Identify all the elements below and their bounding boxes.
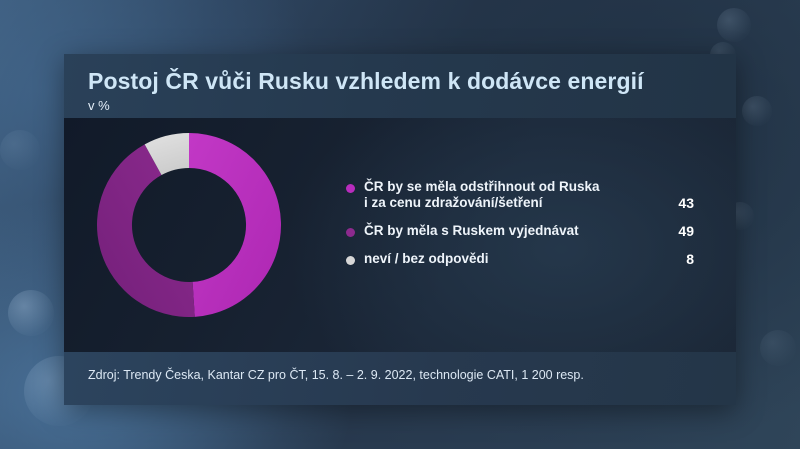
donut-chart [94, 130, 284, 320]
legend-item-odstrihnout[interactable]: ČR by se měla odstřihnout od Ruska i za … [346, 179, 694, 211]
card-footer: Zdroj: Trendy Česka, Kantar CZ pro ČT, 1… [64, 352, 736, 405]
chart-title: Postoj ČR vůči Rusku vzhledem k dodávce … [88, 68, 644, 95]
legend-item-value: 49 [660, 223, 694, 239]
slide-canvas: Postoj ČR vůči Rusku vzhledem k dodávce … [0, 0, 800, 449]
legend-label-line-1: ČR by se měla odstřihnout od Ruska [364, 179, 600, 194]
legend-item-label: neví / bez odpovědi [364, 251, 660, 267]
donut-segment[interactable] [97, 144, 195, 317]
legend-item-label: ČR by měla s Ruskem vyjednávat [364, 223, 660, 239]
legend-label-line-1: neví / bez odpovědi [364, 251, 489, 266]
bokeh-light-8 [0, 130, 40, 170]
legend-bullet-gray-icon [346, 256, 355, 265]
chart-subtitle: v % [88, 98, 110, 113]
bokeh-light-1 [8, 290, 54, 336]
legend-bullet-purple-icon [346, 228, 355, 237]
legend-label-line-1: ČR by měla s Ruskem vyjednávat [364, 223, 579, 238]
bokeh-light-5 [742, 96, 772, 126]
legend-item-nevi[interactable]: neví / bez odpovědi 8 [346, 251, 694, 267]
legend-item-value: 43 [660, 195, 694, 211]
source-note: Zdroj: Trendy Česka, Kantar CZ pro ČT, 1… [88, 368, 584, 382]
card-header: Postoj ČR vůči Rusku vzhledem k dodávce … [64, 54, 736, 118]
donut-segment-group [97, 133, 281, 317]
infographic-card: Postoj ČR vůči Rusku vzhledem k dodávce … [64, 54, 736, 405]
legend-item-label: ČR by se měla odstřihnout od Ruska i za … [364, 179, 660, 211]
bokeh-light-9 [760, 330, 796, 366]
card-body: ČR by se měla odstřihnout od Ruska i za … [64, 118, 736, 352]
chart-legend: ČR by se měla odstřihnout od Ruska i za … [346, 179, 694, 267]
donut-chart-svg [94, 130, 284, 320]
legend-bullet-magenta-icon [346, 184, 355, 193]
donut-segment[interactable] [189, 133, 281, 317]
legend-label-line-2: i za cenu zdražování/šetření [364, 195, 652, 211]
legend-item-vyjednavat[interactable]: ČR by měla s Ruskem vyjednávat 49 [346, 223, 694, 239]
legend-item-value: 8 [660, 251, 694, 267]
bokeh-light-3 [717, 8, 751, 42]
